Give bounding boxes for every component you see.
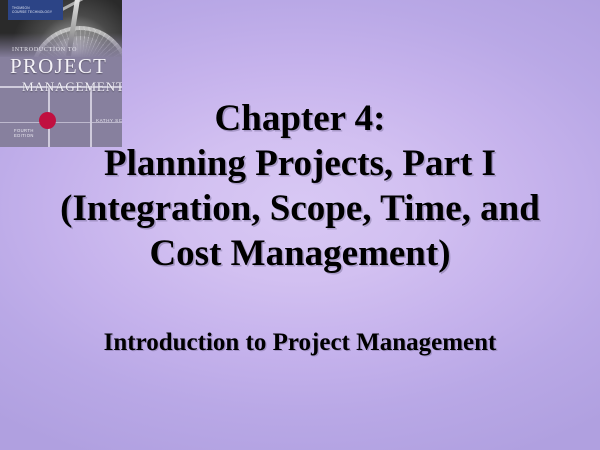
slide-title-line-2: Planning Projects, Part I: [18, 141, 582, 186]
publisher-badge-line-2: COURSE TECHNOLOGY: [12, 10, 59, 14]
book-cover-title: INTRODUCTION TO PROJECT MANAGEMENT: [0, 38, 122, 96]
slide-subtitle: Introduction to Project Management: [18, 328, 582, 358]
slide-title-line-3: (Integration, Scope, Time, and: [18, 186, 582, 231]
publisher-badge: THOMSON COURSE TECHNOLOGY: [8, 0, 63, 20]
book-cover-author: KATHY SCHWALBE: [96, 118, 122, 123]
book-cover-kicker: INTRODUCTION TO: [0, 47, 77, 53]
slide-title: Chapter 4: Planning Projects, Part I (In…: [18, 96, 582, 276]
slide-title-line-4: Cost Management): [18, 231, 582, 276]
cover-red-dot-icon: [39, 112, 56, 129]
book-cover-word-management: MANAGEMENT: [0, 79, 122, 94]
book-cover-edition: FOURTH EDITION: [14, 128, 34, 138]
slide-subtitle-line-1: Introduction to Project Management: [18, 328, 582, 358]
book-cover-edition-line-2: EDITION: [14, 133, 34, 138]
presentation-slide: THOMSON COURSE TECHNOLOGY INTRODUCTION T…: [0, 0, 600, 450]
book-cover-word-project: PROJECT: [0, 54, 107, 78]
